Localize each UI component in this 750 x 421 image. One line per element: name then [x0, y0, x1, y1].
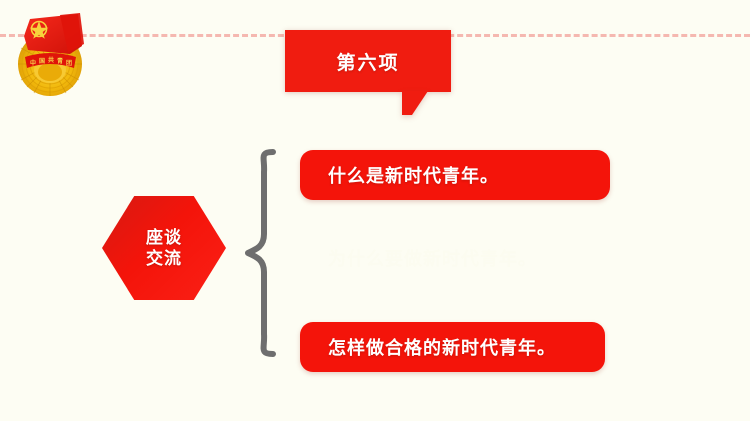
svg-text:团: 团: [66, 59, 72, 67]
svg-text:中: 中: [30, 59, 36, 67]
presentation-slide: 中 国 共 青 团 第六项 座谈 交流 什么是新时代青年。 为什么要做新时代青年…: [0, 0, 750, 421]
bullet-bubble-2-label: 为什么要做新时代青年。: [300, 245, 537, 271]
section-banner-tail: [402, 91, 428, 115]
svg-text:青: 青: [57, 57, 63, 65]
curly-brace-icon: [243, 148, 279, 358]
communist-youth-league-emblem: 中 国 共 青 团: [8, 2, 94, 100]
bullet-bubble-2: 为什么要做新时代青年。: [300, 233, 610, 283]
section-banner: 第六项: [285, 30, 451, 92]
bullet-bubble-3-label: 怎样做合格的新时代青年。: [300, 334, 556, 360]
hexagon-topic-badge: 座谈 交流: [102, 196, 226, 300]
bullet-bubble-1-label: 什么是新时代青年。: [300, 162, 499, 188]
bullet-bubble-1: 什么是新时代青年。: [300, 150, 610, 200]
hexagon-text: 座谈 交流: [102, 196, 226, 300]
hexagon-line-1: 座谈: [146, 227, 182, 248]
section-banner-label: 第六项: [285, 30, 451, 92]
bullet-bubble-3: 怎样做合格的新时代青年。: [300, 322, 605, 372]
svg-text:共: 共: [48, 56, 54, 64]
hexagon-line-2: 交流: [146, 248, 182, 269]
svg-text:国: 国: [39, 57, 45, 65]
